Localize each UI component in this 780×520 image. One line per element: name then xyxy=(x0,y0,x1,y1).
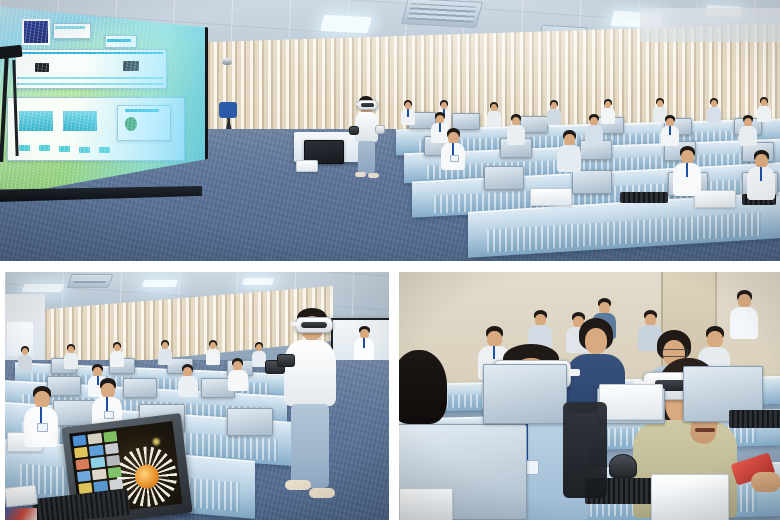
lanyard xyxy=(760,167,762,181)
vr-lens xyxy=(301,322,327,328)
vr-headset xyxy=(295,317,333,333)
vr-controller xyxy=(277,354,295,367)
desktop-icon[interactable] xyxy=(72,435,86,447)
camera-head xyxy=(219,102,237,118)
attendee xyxy=(17,346,33,372)
attendee xyxy=(706,98,722,124)
attendee-torso xyxy=(757,106,771,122)
panel-standing-vr-user xyxy=(5,272,389,520)
desktop-icon[interactable] xyxy=(107,467,121,479)
panel-wide-led-screen-room xyxy=(0,0,780,261)
attendee xyxy=(584,114,604,146)
desktop-icon[interactable] xyxy=(89,445,103,457)
attendee xyxy=(486,102,502,128)
vr-headset xyxy=(357,100,378,110)
attendee-head xyxy=(681,150,694,164)
flip-monitor xyxy=(123,378,157,398)
vr-controller xyxy=(349,126,359,135)
attendee-head xyxy=(491,104,497,111)
attendee-torso xyxy=(487,111,501,127)
instructor-legs xyxy=(358,141,375,174)
attendee xyxy=(546,100,562,126)
attendee xyxy=(672,146,702,198)
flip-monitor xyxy=(483,364,567,424)
attendee xyxy=(205,340,221,366)
attendee xyxy=(227,358,249,392)
standing-vr-participant xyxy=(281,308,341,504)
lanyard xyxy=(106,397,108,411)
bottom-left-scene xyxy=(5,272,389,520)
chair-back xyxy=(563,402,607,498)
lanyard xyxy=(669,126,671,135)
attendee-head xyxy=(210,342,216,349)
attendee-head xyxy=(738,294,751,308)
attendee-head xyxy=(755,154,768,168)
attendee-head xyxy=(551,102,557,109)
id-badge xyxy=(450,155,459,162)
attendee-head xyxy=(441,102,447,109)
vr-strap xyxy=(566,369,580,376)
desktop-icon[interactable] xyxy=(77,470,91,482)
desktop-icon[interactable] xyxy=(74,447,88,459)
attendee-torso xyxy=(18,355,32,371)
keyboard xyxy=(620,192,668,203)
desk-item xyxy=(5,484,38,507)
attendee xyxy=(660,115,680,147)
wallpaper-highlight xyxy=(153,438,161,446)
instructor-shoe xyxy=(355,172,366,177)
attendee-head xyxy=(657,100,663,107)
attendee-torso xyxy=(228,370,248,391)
headset-storage-box xyxy=(530,188,572,206)
flip-monitor xyxy=(227,408,273,436)
participant-torso xyxy=(284,340,336,406)
keyboard[interactable] xyxy=(729,410,780,428)
attendee-torso xyxy=(64,353,78,369)
eyeglasses-icon xyxy=(662,349,688,357)
desktop-icon[interactable] xyxy=(104,443,118,455)
dome-ceiling-camera-icon xyxy=(222,58,232,65)
hair-foreground xyxy=(399,350,447,424)
attendee xyxy=(63,344,79,370)
headset-storage-box xyxy=(599,384,663,420)
desktop-icon[interactable] xyxy=(103,431,117,443)
attendee-torso xyxy=(557,145,581,172)
lanyard xyxy=(452,143,454,155)
attendee-torso xyxy=(178,376,198,397)
attendee-head xyxy=(256,344,262,351)
attendee xyxy=(157,340,173,366)
desktop-icon[interactable] xyxy=(92,469,106,481)
headset-storage-box xyxy=(399,488,453,520)
attendee xyxy=(556,130,582,174)
lanyard xyxy=(407,109,409,117)
vr-controller xyxy=(609,454,637,478)
attendee-torso xyxy=(707,107,721,123)
attendee xyxy=(738,115,758,147)
vr-strap xyxy=(291,322,299,326)
attendee-torso xyxy=(730,307,758,339)
instructor-with-vr-headset xyxy=(348,96,384,180)
ac-vent xyxy=(401,0,483,28)
attendee xyxy=(506,114,526,146)
wrist-bracelet xyxy=(695,428,715,432)
attendee-head xyxy=(68,346,74,353)
participant-legs xyxy=(291,404,329,488)
participant-shoe xyxy=(309,488,335,498)
attendee xyxy=(756,97,772,123)
lanyard xyxy=(363,338,365,348)
attendee xyxy=(440,128,466,172)
participant-shoe xyxy=(285,480,311,490)
attendee-head xyxy=(707,331,723,348)
attendee-torso xyxy=(547,109,561,125)
photo-collage xyxy=(0,0,780,520)
attendee-torso xyxy=(158,349,172,365)
panel-seated-vr-users xyxy=(399,272,780,520)
ac-vent xyxy=(67,274,114,288)
attendee-head xyxy=(711,100,717,107)
lanyard xyxy=(40,407,42,423)
attendee xyxy=(400,100,416,126)
attendee-torso xyxy=(206,349,220,365)
attendee-head xyxy=(22,348,28,355)
hand xyxy=(751,472,780,492)
desktop-icon[interactable] xyxy=(75,459,89,471)
id-badge xyxy=(37,423,48,432)
ceiling-light-panel xyxy=(320,15,372,33)
bottom-right-scene xyxy=(399,272,780,520)
attendee-head xyxy=(101,383,115,398)
flip-monitor xyxy=(484,166,524,190)
attendee xyxy=(109,342,125,368)
instructor-shoe xyxy=(368,173,379,178)
stage-rigging-head xyxy=(0,45,23,59)
attendee-torso xyxy=(739,126,757,146)
attendee-head xyxy=(405,102,411,109)
upper-wall xyxy=(640,8,780,42)
desktop-icon[interactable] xyxy=(106,455,120,467)
attendee xyxy=(177,364,199,398)
attendee-torso xyxy=(507,125,525,145)
ceiling-light-panel xyxy=(22,284,65,292)
attendee xyxy=(729,290,759,342)
vr-controller xyxy=(375,125,385,134)
attendee-head xyxy=(162,342,168,349)
attendee-torso xyxy=(110,351,124,367)
vr-strap xyxy=(356,103,360,105)
attendee-head xyxy=(605,101,611,108)
id-badge xyxy=(104,411,114,419)
attendee xyxy=(23,386,59,448)
attendee-head xyxy=(761,99,767,106)
ceiling-light-panel xyxy=(142,280,178,287)
desktop-icon[interactable] xyxy=(88,433,102,445)
desktop-icon[interactable] xyxy=(109,479,123,491)
lanyard xyxy=(686,163,688,177)
lectern-box xyxy=(296,160,318,172)
top-scene xyxy=(0,0,780,261)
attendee-head xyxy=(114,344,120,351)
attendee-torso xyxy=(585,125,603,145)
attendee-head xyxy=(34,391,50,408)
vr-lens xyxy=(361,103,375,107)
attendee-torso xyxy=(252,351,266,367)
ceiling-light-panel xyxy=(242,278,274,285)
desktop-icon[interactable] xyxy=(91,457,105,469)
headset-storage-box xyxy=(651,474,729,520)
attendee xyxy=(746,150,776,202)
desk-photo-card xyxy=(5,508,37,520)
